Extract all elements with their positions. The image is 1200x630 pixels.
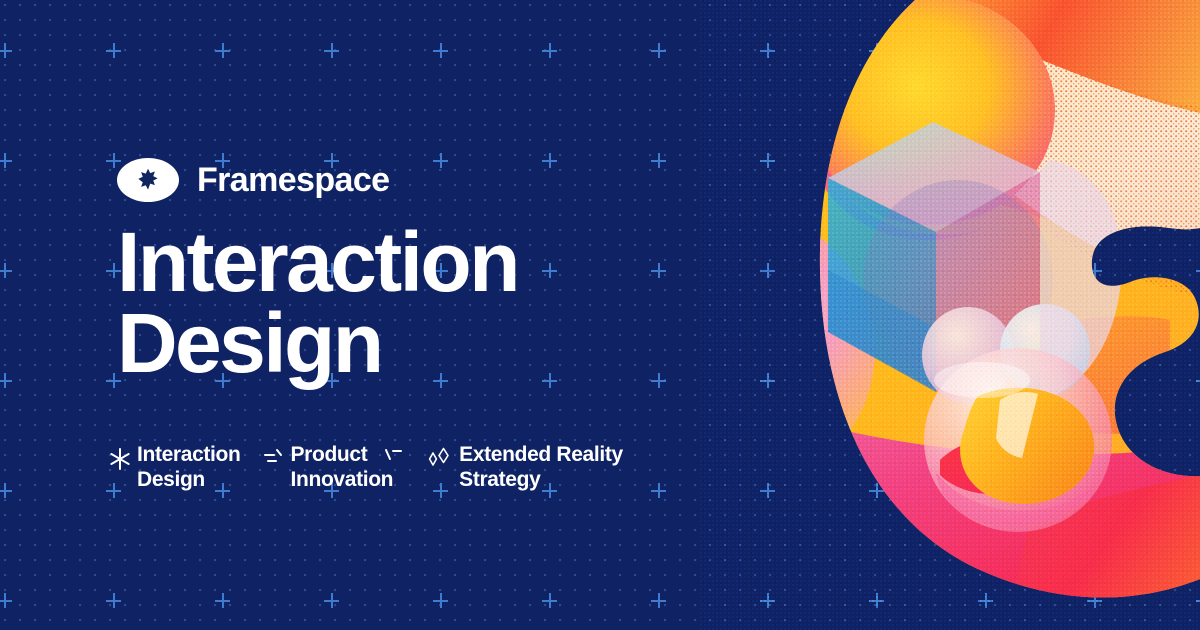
plus-mark xyxy=(0,43,12,58)
content-column: Framespace Interaction Design Interactio… xyxy=(117,0,727,630)
tag-extended-reality-strategy[interactable]: Extended Reality Strategy xyxy=(425,443,645,493)
sparkle-asterisk-icon xyxy=(109,447,131,476)
plus-mark xyxy=(0,373,12,388)
tag-product-innovation[interactable]: Product Innovation xyxy=(263,443,426,493)
tag-label: Interaction Design xyxy=(137,443,241,493)
tag-interaction-design[interactable]: Interaction Design xyxy=(109,443,263,493)
motion-dashes-icon xyxy=(263,447,285,476)
plus-mark xyxy=(0,263,12,278)
plus-mark xyxy=(0,593,12,608)
star-burst-icon xyxy=(117,158,179,202)
tag-label: Extended Reality Strategy xyxy=(459,443,623,493)
double-diamond-icon xyxy=(425,447,453,476)
tag-row: Interaction Design Product Innovation xyxy=(109,443,645,493)
tag-label: Product Innovation xyxy=(291,443,394,493)
plus-mark xyxy=(0,153,12,168)
plus-mark xyxy=(0,483,12,498)
motion-dashes-trailing-icon xyxy=(383,447,403,476)
abstract-artwork xyxy=(700,0,1200,630)
brand-lockup[interactable]: Framespace xyxy=(117,158,389,202)
poster-canvas: Framespace Interaction Design Interactio… xyxy=(0,0,1200,630)
page-title: Interaction Design xyxy=(117,222,518,385)
brand-name: Framespace xyxy=(197,161,389,200)
